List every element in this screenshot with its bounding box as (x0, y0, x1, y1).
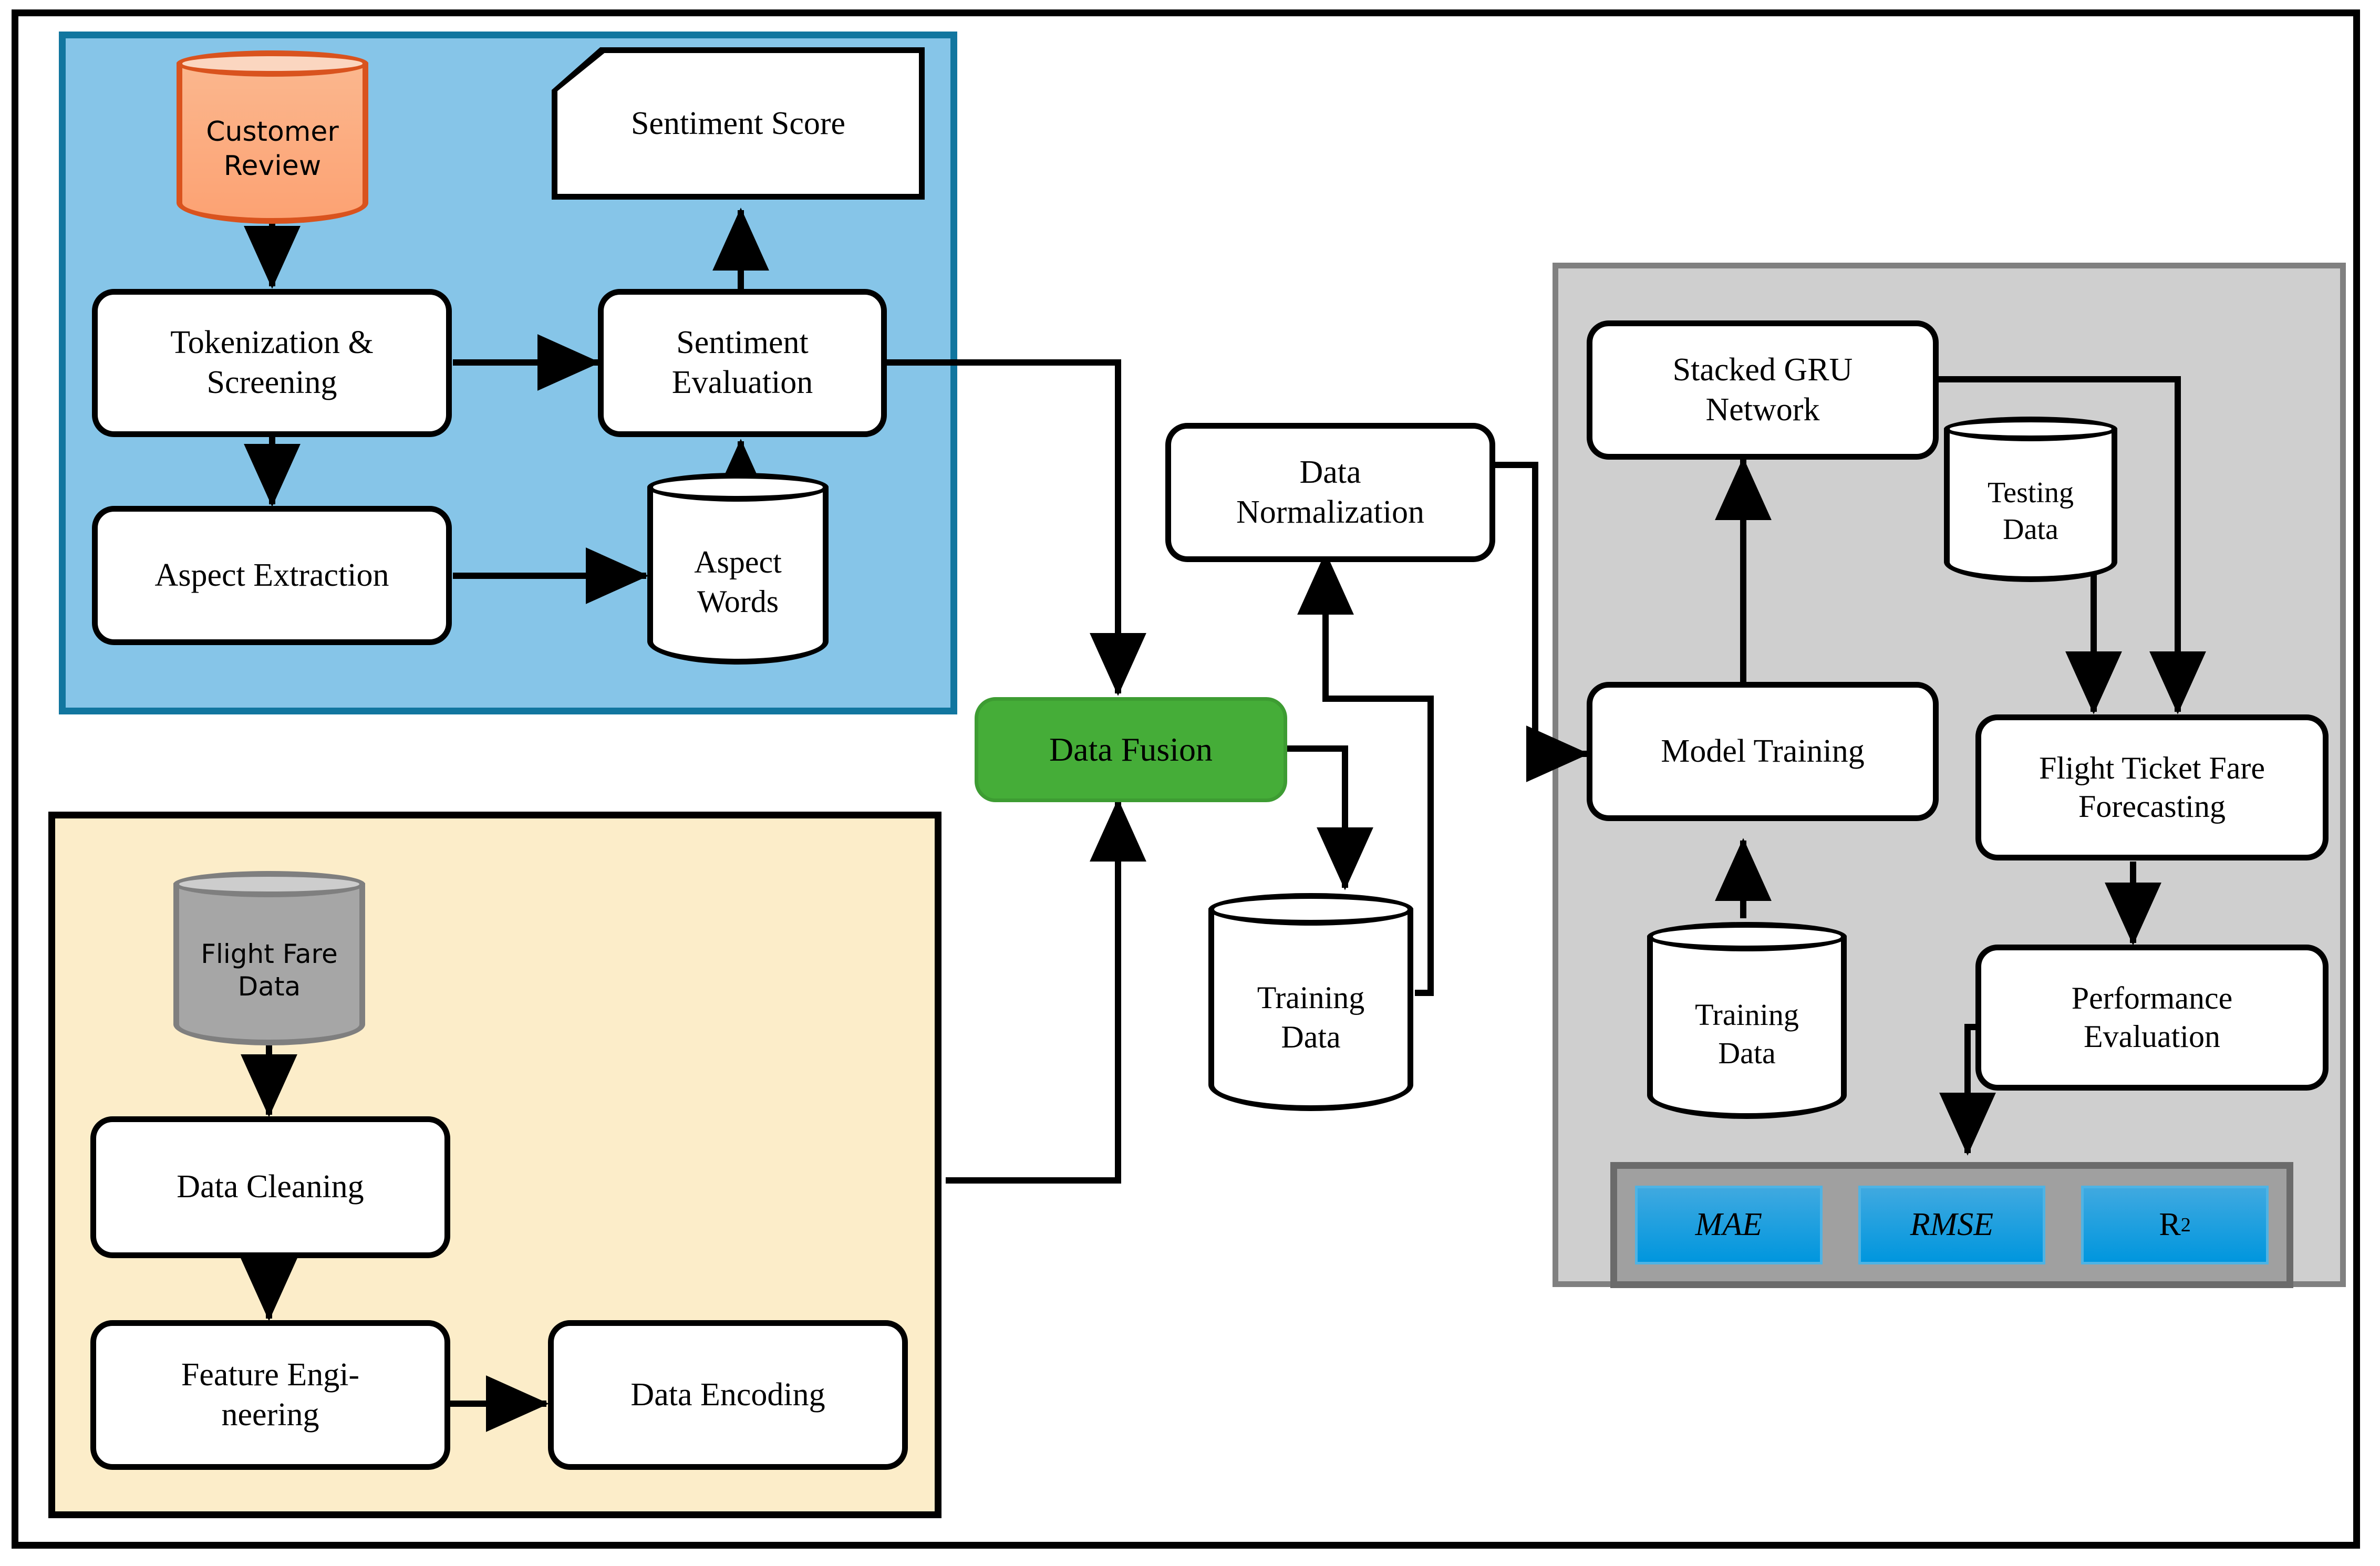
metric-rmse-label: RMSE (1910, 1206, 1993, 1243)
sentiment-evaluation-line1: Sentiment (676, 325, 808, 360)
testing-data-label: Testing Data (1951, 450, 2110, 572)
middle-training-data-line1: Training (1257, 980, 1365, 1015)
aspect-words-line1: Aspect (694, 545, 782, 579)
model-training-label: Model Training (1661, 732, 1865, 772)
model-training-data-line1: Training (1695, 998, 1799, 1032)
sentiment-score-label: Sentiment Score (631, 105, 845, 142)
metric-mae-label: MAE (1695, 1206, 1762, 1243)
flight-ticket-fare-forecasting-box[interactable]: Flight Ticket Fare Forecasting (1975, 714, 2329, 860)
aspect-extraction-box[interactable]: Aspect Extraction (92, 506, 452, 645)
metric-r2[interactable]: R2 (2081, 1186, 2269, 1264)
flight-fare-data-line2: Data (238, 971, 301, 1002)
stacked-gru-network-box[interactable]: Stacked GRU Network (1587, 320, 1939, 460)
cylinder-top (1208, 893, 1413, 926)
data-normalization-line1: Data (1299, 454, 1361, 490)
data-encoding-box[interactable]: Data Encoding (548, 1320, 908, 1470)
data-normalization-box[interactable]: Data Normalization (1165, 423, 1495, 562)
aspect-words-datastore[interactable]: Aspect Words (647, 473, 829, 665)
tokenization-line2: Screening (207, 365, 337, 400)
middle-training-data-line2: Data (1281, 1020, 1340, 1054)
flight-fare-data-label: Flight Fare Data (181, 906, 358, 1035)
data-encoding-label: Data Encoding (630, 1375, 825, 1415)
sentiment-score-inner: Sentiment Score (557, 53, 919, 194)
feature-engineering-line2: neering (222, 1397, 319, 1433)
forecasting-line2: Forecasting (2078, 789, 2226, 824)
tokenization-screening-box[interactable]: Tokenization & Screening (92, 289, 452, 437)
middle-training-data-datastore[interactable]: Training Data (1208, 893, 1413, 1111)
metric-r2-superscript: 2 (2181, 1214, 2191, 1237)
customer-review-label: Customer Review (184, 85, 361, 213)
cylinder-top (177, 50, 368, 77)
sentiment-score-document[interactable]: Sentiment Score (552, 47, 925, 200)
model-training-box[interactable]: Model Training (1587, 682, 1939, 821)
diagram-canvas: Customer Review Tokenization & Screening… (0, 0, 2380, 1566)
feature-engineering-line1: Feature Engi- (181, 1357, 359, 1393)
customer-review-datastore[interactable]: Customer Review (177, 50, 368, 224)
sentiment-evaluation-box[interactable]: Sentiment Evaluation (598, 289, 887, 437)
customer-review-line1: Customer (206, 116, 339, 148)
stacked-gru-line2: Network (1706, 392, 1820, 428)
data-cleaning-box[interactable]: Data Cleaning (90, 1116, 450, 1258)
aspect-words-label: Aspect Words (655, 511, 821, 653)
model-training-data-label: Training Data (1655, 961, 1839, 1107)
customer-review-line2: Review (224, 150, 322, 182)
cylinder-top (1944, 417, 2117, 441)
data-fusion-box[interactable]: Data Fusion (975, 697, 1287, 802)
flight-fare-data-line1: Flight Fare (201, 939, 338, 969)
stacked-gru-line1: Stacked GRU (1673, 352, 1853, 388)
performance-evaluation-box[interactable]: Performance Evaluation (1975, 945, 2329, 1091)
metric-mae[interactable]: MAE (1635, 1186, 1823, 1264)
cylinder-top (1647, 922, 1847, 951)
model-training-data-datastore[interactable]: Training Data (1647, 922, 1847, 1119)
sentiment-evaluation-line2: Evaluation (672, 365, 813, 400)
metric-rmse[interactable]: RMSE (1858, 1186, 2046, 1264)
forecasting-line1: Flight Ticket Fare (2039, 751, 2265, 785)
flight-fare-data-datastore[interactable]: Flight Fare Data (173, 871, 365, 1045)
aspect-extraction-label: Aspect Extraction (155, 556, 389, 596)
performance-evaluation-line1: Performance (2072, 981, 2233, 1015)
cylinder-top (173, 871, 365, 897)
metric-r2-label: R (2159, 1206, 2180, 1243)
model-training-data-line2: Data (1718, 1036, 1776, 1070)
performance-evaluation-line2: Evaluation (2084, 1019, 2220, 1054)
metrics-tray: MAE RMSE R2 (1610, 1162, 2293, 1288)
data-normalization-line2: Normalization (1236, 494, 1424, 530)
middle-training-data-label: Training Data (1217, 937, 1405, 1098)
cylinder-top (647, 473, 829, 502)
feature-engineering-box[interactable]: Feature Engi- neering (90, 1320, 450, 1470)
tokenization-line1: Tokenization & (170, 325, 374, 360)
data-cleaning-label: Data Cleaning (177, 1167, 364, 1207)
testing-data-datastore[interactable]: Testing Data (1944, 417, 2117, 582)
aspect-words-line2: Words (697, 584, 779, 619)
data-fusion-label: Data Fusion (1049, 729, 1213, 770)
testing-data-line2: Data (2003, 513, 2058, 546)
testing-data-line1: Testing (1988, 476, 2074, 509)
